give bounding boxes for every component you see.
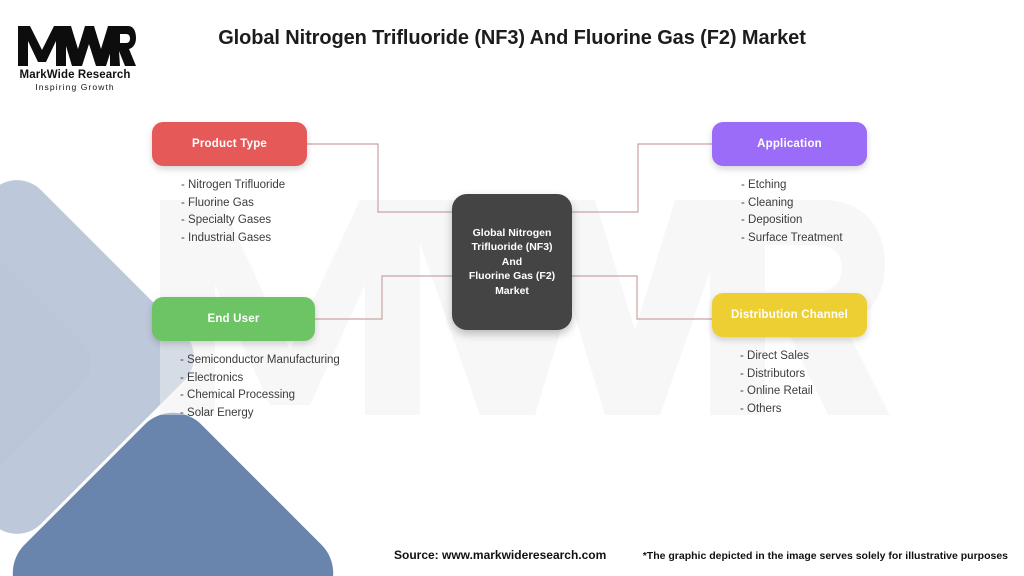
segment-end-user-header[interactable]: End User bbox=[152, 297, 315, 341]
list-item: - Surface Treatment bbox=[741, 230, 867, 248]
list-item: - Deposition bbox=[741, 212, 867, 230]
list-item: - Electronics bbox=[180, 370, 340, 388]
segment-application: Application - Etching - Cleaning - Depos… bbox=[712, 122, 867, 247]
brand-tagline: Inspiring Growth bbox=[14, 82, 136, 92]
central-hub-line-2: Trifluoride (NF3) And bbox=[461, 240, 563, 269]
connector-application bbox=[572, 144, 712, 212]
connector-product-type bbox=[307, 144, 452, 212]
segment-distribution-channel: Distribution Channel - Direct Sales - Di… bbox=[712, 293, 867, 418]
segment-product-type-list: - Nitrogen Trifluoride - Fluorine Gas - … bbox=[152, 177, 307, 247]
list-item: - Solar Energy bbox=[180, 405, 340, 423]
list-item: - Chemical Processing bbox=[180, 387, 340, 405]
list-item: - Fluorine Gas bbox=[181, 195, 307, 213]
central-hub-node: Global Nitrogen Trifluoride (NF3) And Fl… bbox=[452, 194, 572, 330]
list-item: - Nitrogen Trifluoride bbox=[181, 177, 307, 195]
segment-product-type-header[interactable]: Product Type bbox=[152, 122, 307, 166]
segment-distribution-channel-list: - Direct Sales - Distributors - Online R… bbox=[712, 348, 867, 418]
central-hub-line-4: Market bbox=[461, 284, 563, 299]
list-item: - Cleaning bbox=[741, 195, 867, 213]
footer-disclaimer: *The graphic depicted in the image serve… bbox=[643, 550, 1008, 562]
segment-application-header[interactable]: Application bbox=[712, 122, 867, 166]
list-item: - Semiconductor Manufacturing bbox=[180, 352, 340, 370]
central-hub-label: Global Nitrogen Trifluoride (NF3) And Fl… bbox=[461, 226, 563, 299]
list-item: - Online Retail bbox=[740, 383, 867, 401]
list-item: - Direct Sales bbox=[740, 348, 867, 366]
list-item: - Etching bbox=[741, 177, 867, 195]
footer-source: Source: www.markwideresearch.com bbox=[394, 548, 606, 562]
segment-application-list: - Etching - Cleaning - Deposition - Surf… bbox=[712, 177, 867, 247]
connector-distribution-channel bbox=[572, 276, 712, 319]
list-item: - Specialty Gases bbox=[181, 212, 307, 230]
page-title: Global Nitrogen Trifluoride (NF3) And Fl… bbox=[0, 27, 1024, 50]
segment-product-type: Product Type - Nitrogen Trifluoride - Fl… bbox=[152, 122, 307, 247]
segment-end-user: End User - Semiconductor Manufacturing -… bbox=[152, 297, 340, 422]
segment-distribution-channel-header[interactable]: Distribution Channel bbox=[712, 293, 867, 337]
list-item: - Distributors bbox=[740, 366, 867, 384]
central-hub-line-3: Fluorine Gas (F2) bbox=[461, 269, 563, 284]
list-item: - Others bbox=[740, 401, 867, 419]
segment-end-user-list: - Semiconductor Manufacturing - Electron… bbox=[152, 352, 340, 422]
brand-name: MarkWide Research bbox=[14, 69, 136, 81]
list-item: - Industrial Gases bbox=[181, 230, 307, 248]
central-hub-line-1: Global Nitrogen bbox=[461, 226, 563, 241]
